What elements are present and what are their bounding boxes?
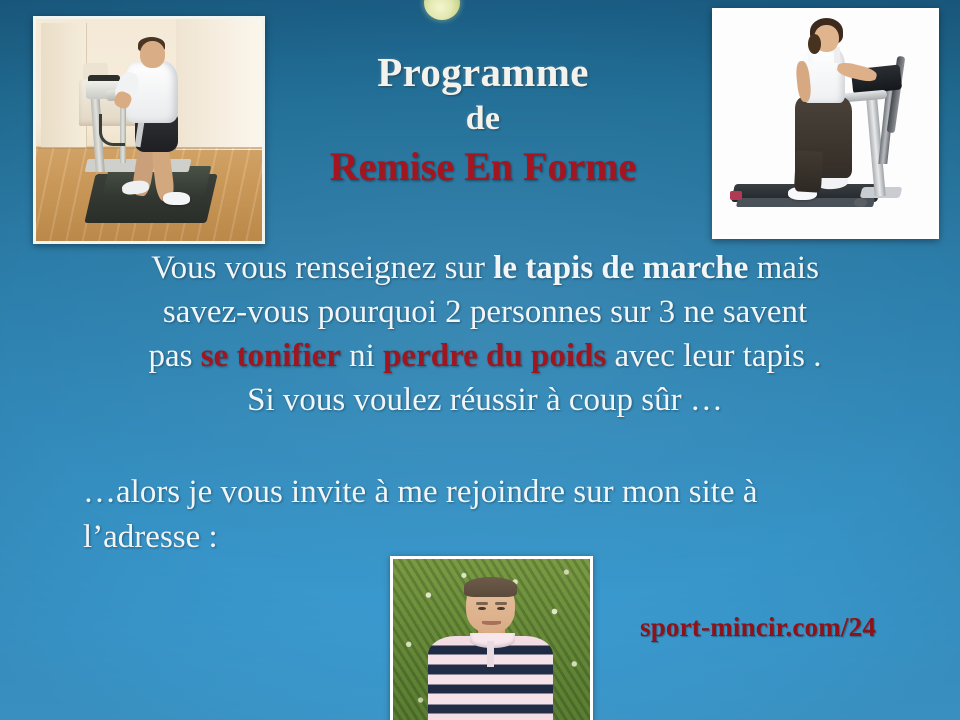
text-segment: mais xyxy=(748,250,819,286)
man-front-shoe xyxy=(163,192,190,205)
text-segment: Vous vous renseignez sur xyxy=(151,250,493,286)
treadmill-hook xyxy=(99,114,125,146)
photo-right-content xyxy=(715,11,936,236)
man-on-treadmill-photo xyxy=(33,16,265,244)
text-segment: pas xyxy=(148,338,200,374)
title-line-de: de xyxy=(268,96,698,142)
treadmill-wheel xyxy=(854,198,867,207)
room-wall xyxy=(176,19,262,150)
woman-pants-leg xyxy=(794,150,823,192)
paragraph-one-line-1: Vous vous renseignez sur le tapis de mar… xyxy=(62,246,908,290)
paragraph-one-line-2: savez-vous pourquoi 2 personnes sur 3 ne… xyxy=(62,290,908,334)
text-segment: avec leur tapis . xyxy=(606,338,821,374)
paragraph-two-line-1: …alors je vous invite à me rejoindre sur… xyxy=(83,470,913,515)
portrait-eyebrow-right xyxy=(495,602,507,605)
green-orb-icon xyxy=(424,0,460,20)
paragraph-one-line-3: pas se tonifier ni perdre du poids avec … xyxy=(62,334,908,378)
title-line-remise-en-forme: Remise En Forme xyxy=(268,142,698,192)
title-line-programme: Programme xyxy=(268,48,698,96)
woman-on-treadmill-photo xyxy=(712,8,939,239)
presentation-slide: Programme de Remise En Forme Vous vous r… xyxy=(0,0,960,720)
woman-hair-side xyxy=(808,34,821,54)
portrait-hair xyxy=(464,577,517,597)
slide-title: Programme de Remise En Forme xyxy=(268,48,698,192)
treadmill-deck-endcap xyxy=(730,191,741,200)
woman-strap-right xyxy=(834,47,840,63)
text-segment: ni xyxy=(341,338,383,374)
website-url[interactable]: sport-mincir.com/24 xyxy=(640,612,876,643)
photo-left-content xyxy=(36,19,262,241)
paragraph-one-text: Vous vous renseignez sur le tapis de mar… xyxy=(62,246,908,422)
author-portrait-photo xyxy=(390,556,593,720)
highlight-perdre-du-poids: perdre du poids xyxy=(383,338,606,374)
man-head xyxy=(140,41,165,68)
body-paragraph-two: …alors je vous invite à me rejoindre sur… xyxy=(83,470,913,560)
portrait-placket xyxy=(487,641,495,667)
body-paragraph-one: Vous vous renseignez sur le tapis de mar… xyxy=(62,246,908,422)
portrait-content xyxy=(393,559,590,720)
paragraph-one-line-4: Si vous voulez réussir à coup sûr … xyxy=(62,378,908,422)
highlight-se-tonifier: se tonifier xyxy=(201,338,341,374)
paragraph-two-line-2: l’adresse : xyxy=(83,515,913,560)
highlight-tapis-de-marche: le tapis de marche xyxy=(493,250,748,286)
portrait-eyebrow-left xyxy=(476,602,488,605)
